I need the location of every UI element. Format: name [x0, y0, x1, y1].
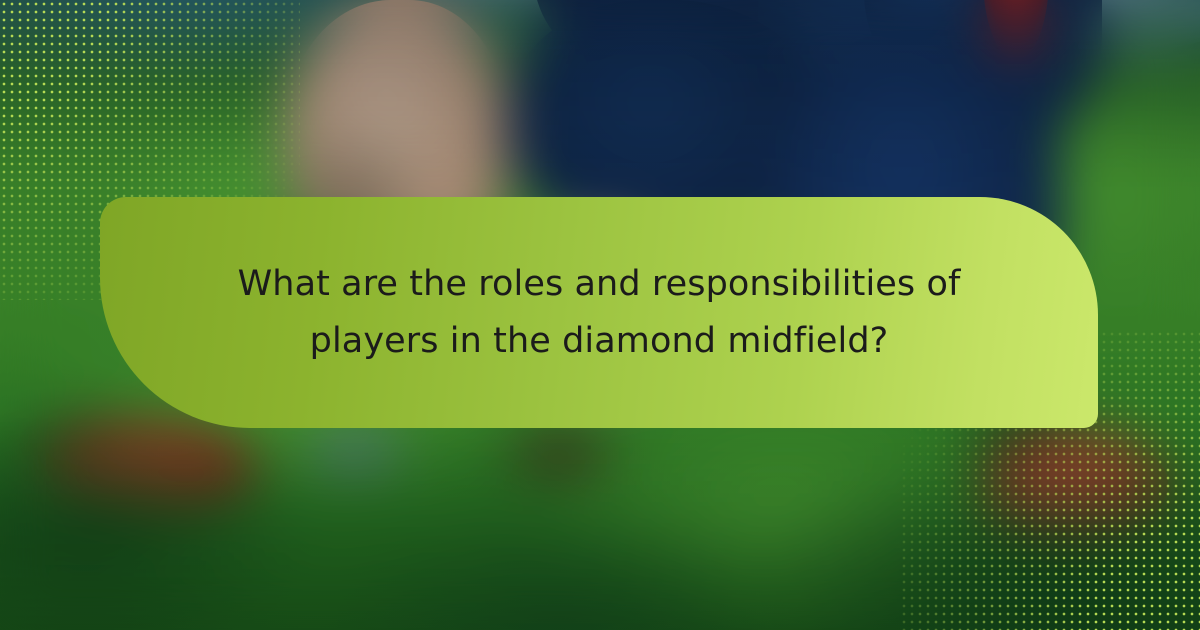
question-card: What are the roles and responsibilities …	[0, 0, 1200, 630]
question-title: What are the roles and responsibilities …	[219, 256, 979, 369]
question-banner: What are the roles and responsibilities …	[100, 197, 1098, 428]
